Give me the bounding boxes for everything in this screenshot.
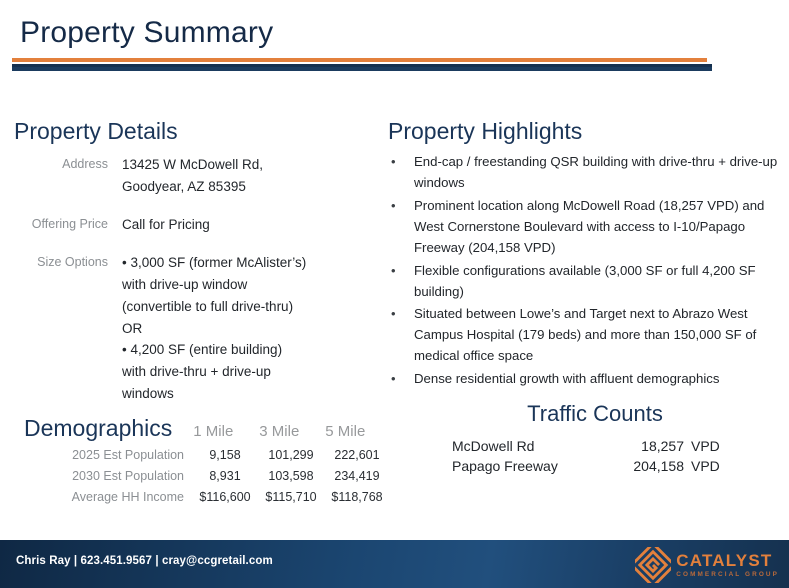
demographics-cell: $118,768 — [324, 490, 390, 504]
table-row: 2030 Est Population 8,931 103,598 234,41… — [24, 469, 414, 483]
demographics-cell: 222,601 — [324, 448, 390, 462]
list-item: • Situated between Lowe’s and Target nex… — [388, 304, 780, 367]
traffic-road-name: McDowell Rd — [452, 436, 612, 456]
company-logo: CATALYST COMMERCIAL GROUP — [635, 546, 779, 584]
detail-row: Size Options • 3,000 SF (former McAliste… — [14, 252, 386, 405]
demographics-cell: 103,598 — [258, 469, 324, 483]
detail-row: Offering Price Call for Pricing — [14, 214, 386, 236]
traffic-count-value: 204,158 — [612, 456, 684, 476]
detail-value: Call for Pricing — [122, 214, 386, 236]
property-highlights-heading: Property Highlights — [388, 118, 780, 144]
property-details-section: Property Details Address 13425 W McDowel… — [14, 118, 386, 421]
footer-contact-text: Chris Ray | 623.451.9567 | cray@ccgretai… — [16, 555, 273, 567]
property-highlights-list: • End-cap / freestanding QSR building wi… — [388, 152, 780, 389]
demographics-section: Demographics 1 Mile 3 Mile 5 Mile 2025 E… — [24, 416, 414, 504]
property-highlights-section: Property Highlights • End-cap / freestan… — [388, 118, 780, 392]
bullet-icon: • — [388, 369, 414, 390]
list-item: • Flexible configurations available (3,0… — [388, 261, 780, 303]
demographics-row-label: Average HH Income — [24, 490, 192, 504]
list-item-label: End-cap / freestanding QSR building with… — [414, 152, 780, 194]
traffic-counts-section: Traffic Counts McDowell Rd 18,257 VPD Pa… — [430, 402, 760, 477]
logo-text-block: CATALYST COMMERCIAL GROUP — [676, 552, 779, 578]
detail-label: Offering Price — [14, 214, 122, 234]
list-item: • Prominent location along McDowell Road… — [388, 196, 780, 259]
demographics-row-label: 2025 Est Population — [24, 448, 192, 462]
property-details-heading: Property Details — [14, 118, 386, 144]
demographics-cell: 101,299 — [258, 448, 324, 462]
detail-label: Address — [14, 154, 122, 174]
traffic-counts-rows: McDowell Rd 18,257 VPD Papago Freeway 20… — [430, 436, 760, 477]
divider-navy-line-thick — [12, 67, 712, 71]
detail-value: 13425 W McDowell Rd, Goodyear, AZ 85395 — [122, 154, 386, 198]
property-details-rows: Address 13425 W McDowell Rd, Goodyear, A… — [14, 154, 386, 405]
page-title: Property Summary — [20, 16, 273, 49]
demographics-row-label: 2030 Est Population — [24, 469, 192, 483]
list-item: • End-cap / freestanding QSR building wi… — [388, 152, 780, 194]
demographics-cell: $115,710 — [258, 490, 324, 504]
bullet-icon: • — [388, 261, 414, 282]
demographics-cell: 9,158 — [192, 448, 258, 462]
list-item-label: Situated between Lowe’s and Target next … — [414, 304, 780, 367]
demographics-column-header: 1 Mile — [180, 423, 246, 440]
traffic-count-unit: VPD — [684, 456, 720, 476]
demographics-header-row: Demographics 1 Mile 3 Mile 5 Mile — [24, 416, 414, 441]
detail-row: Address 13425 W McDowell Rd, Goodyear, A… — [14, 154, 386, 198]
bullet-icon: • — [388, 304, 414, 325]
demographics-column-header: 5 Mile — [312, 423, 378, 440]
demographics-cell: 234,419 — [324, 469, 390, 483]
traffic-count-unit: VPD — [684, 436, 720, 456]
title-divider — [12, 58, 712, 72]
traffic-counts-heading: Traffic Counts — [430, 402, 760, 426]
demographics-cell: 8,931 — [192, 469, 258, 483]
traffic-count-value: 18,257 — [612, 436, 684, 456]
logo-subtitle: COMMERCIAL GROUP — [676, 572, 779, 578]
bullet-icon: • — [388, 152, 414, 173]
detail-value: • 3,000 SF (former McAlister’s) with dri… — [122, 252, 386, 405]
list-item-label: Dense residential growth with affluent d… — [414, 369, 780, 390]
list-item: • Dense residential growth with affluent… — [388, 369, 780, 390]
demographics-cell: $116,600 — [192, 490, 258, 504]
bullet-icon: • — [388, 196, 414, 217]
list-item-label: Flexible configurations available (3,000… — [414, 261, 780, 303]
table-row: 2025 Est Population 9,158 101,299 222,60… — [24, 448, 414, 462]
list-item-label: Prominent location along McDowell Road (… — [414, 196, 780, 259]
table-row: McDowell Rd 18,257 VPD — [452, 436, 760, 456]
footer-bar: Chris Ray | 623.451.9567 | cray@ccgretai… — [0, 540, 789, 588]
table-row: Average HH Income $116,600 $115,710 $118… — [24, 490, 414, 504]
traffic-road-name: Papago Freeway — [452, 456, 612, 476]
logo-wordmark: CATALYST — [676, 552, 779, 569]
demographics-column-header: 3 Mile — [246, 423, 312, 440]
catalyst-spiral-icon — [635, 547, 671, 583]
divider-orange-line — [12, 58, 707, 62]
table-row: Papago Freeway 204,158 VPD — [452, 456, 760, 476]
demographics-heading: Demographics — [24, 416, 172, 441]
detail-label: Size Options — [14, 252, 122, 272]
